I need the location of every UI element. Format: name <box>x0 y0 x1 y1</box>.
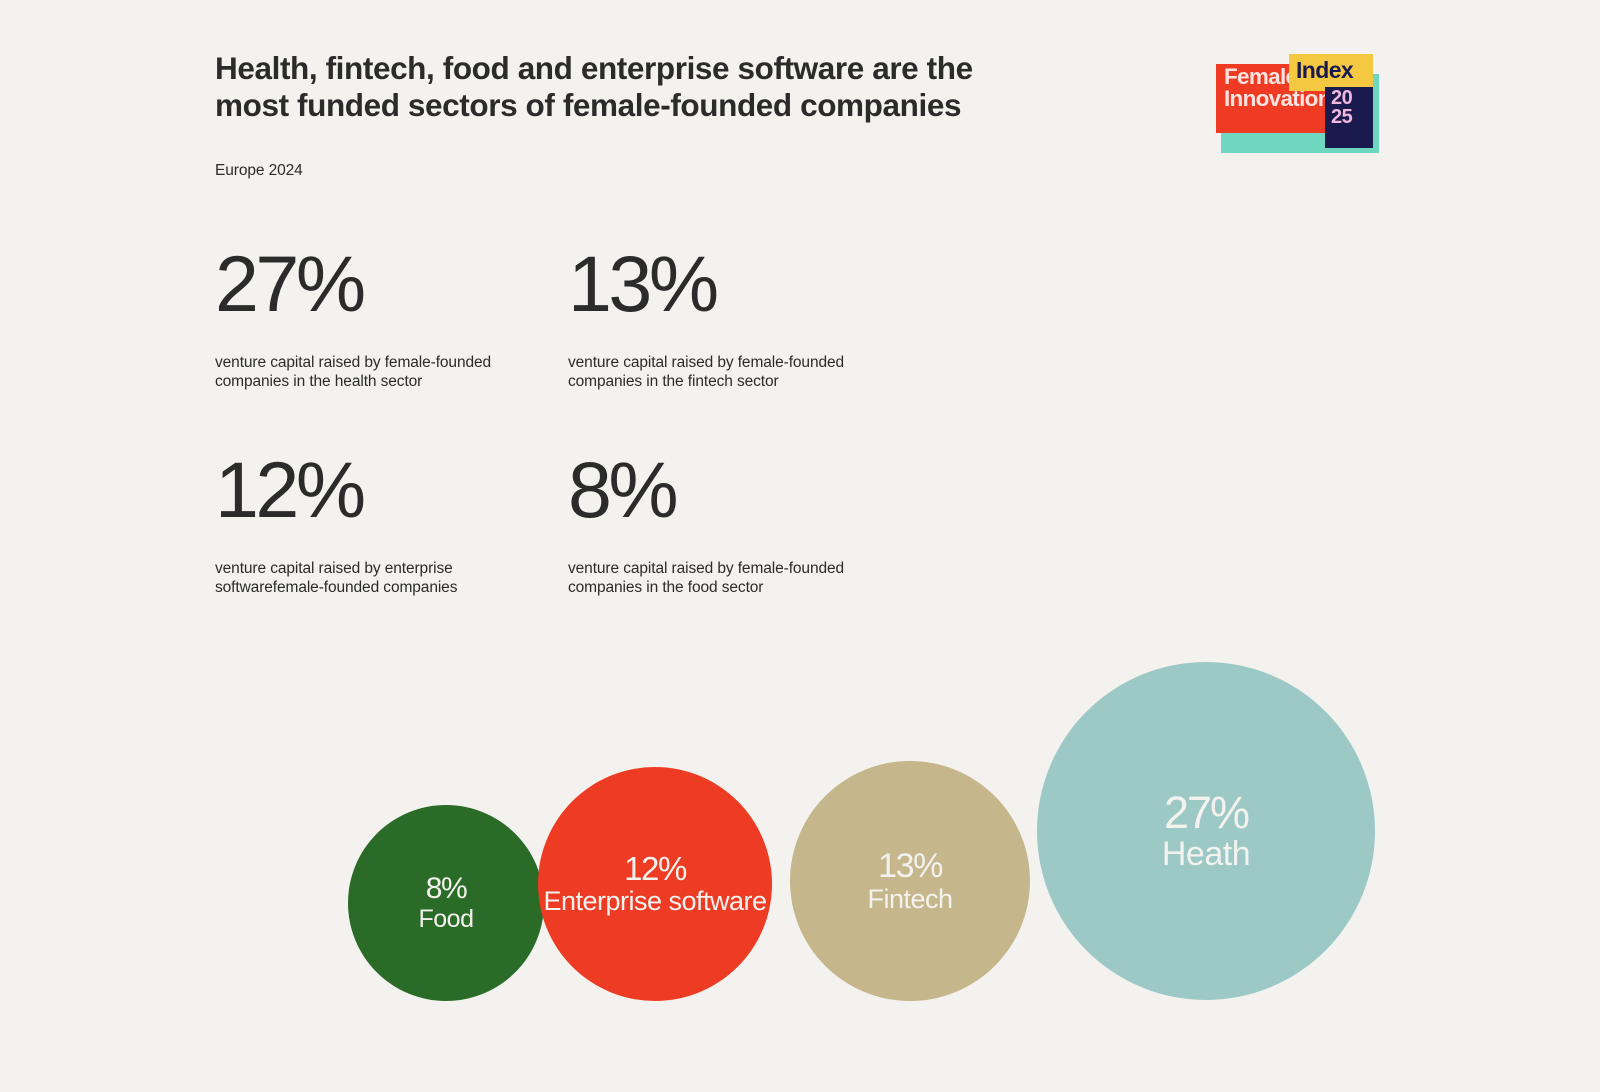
bubble-label-health: Heath <box>1162 837 1250 873</box>
stat-description-health: venture capital raised by female-founded… <box>215 354 515 392</box>
logo-year: 20 25 <box>1331 89 1373 127</box>
stat-value-food: 8% <box>568 450 868 529</box>
female-innovation-index-logo: Female Innovation Index 20 25 <box>1185 48 1381 148</box>
stat-block-enterprise-software: 12% venture capital raised by enterprise… <box>215 450 515 598</box>
bubble-label-enterprise-software: Enterprise software <box>543 887 766 915</box>
stat-block-fintech: 13% venture capital raised by female-fou… <box>568 244 868 392</box>
bubble-value-fintech: 13% <box>878 849 942 883</box>
bubble-label-fintech: Fintech <box>867 885 952 913</box>
logo-index-label: Index <box>1296 57 1353 84</box>
stat-description-enterprise-software: venture capital raised by enterprise sof… <box>215 560 515 598</box>
stat-block-health: 27% venture capital raised by female-fou… <box>215 244 515 392</box>
subtitle: Europe 2024 <box>215 162 303 180</box>
bubble-value-health: 27% <box>1164 790 1248 835</box>
page-title: Health, fintech, food and enterprise sof… <box>215 50 1015 123</box>
bubble-label-food: Food <box>419 906 474 932</box>
logo-year-bottom: 25 <box>1331 108 1373 127</box>
stat-value-health: 27% <box>215 244 515 323</box>
bubble-health: 27% Heath <box>1037 662 1375 1000</box>
bubble-value-enterprise-software: 12% <box>624 852 686 885</box>
bubble-food: 8% Food <box>348 805 544 1001</box>
infographic-canvas: Health, fintech, food and enterprise sof… <box>0 0 1600 1092</box>
stat-description-food: venture capital raised by female-founded… <box>568 560 868 598</box>
stat-description-fintech: venture capital raised by female-founded… <box>568 354 868 392</box>
bubble-value-food: 8% <box>426 874 467 904</box>
stat-value-enterprise-software: 12% <box>215 450 515 529</box>
bubble-fintech: 13% Fintech <box>790 761 1030 1001</box>
bubble-chart: 8% Food 12% Enterprise software 13% Fint… <box>0 600 1600 1040</box>
stat-value-fintech: 13% <box>568 244 868 323</box>
bubble-enterprise-software: 12% Enterprise software <box>538 767 772 1001</box>
stat-block-food: 8% venture capital raised by female-foun… <box>568 450 868 598</box>
